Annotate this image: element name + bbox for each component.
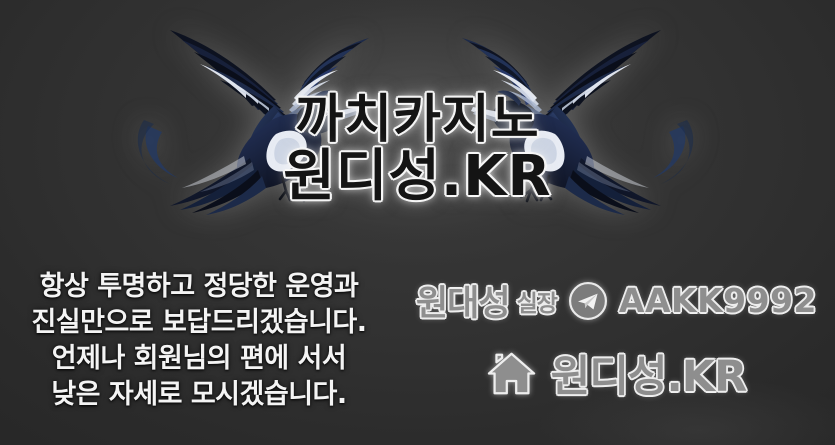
- logo-zone: 까치카지노 원디성.KR: [0, 0, 835, 238]
- telegram-id: AAKK9992: [619, 281, 817, 320]
- site-domain: 원디성.KR: [551, 342, 746, 404]
- magpie-bird-left: [126, 8, 376, 223]
- manager-name: 원대성: [416, 275, 510, 326]
- slogan-line-2: 진실만으로 보답드리겠습니다.: [0, 305, 398, 341]
- telegram-contact-row[interactable]: 원대성 실장 AAKK9992: [416, 275, 817, 326]
- home-icon[interactable]: [487, 350, 536, 397]
- slogan-line-4: 낮은 자세로 모시겠습니다.: [0, 377, 398, 413]
- slogan-line-3: 언제나 회원님의 편에 서서: [0, 341, 398, 377]
- magpie-bird-right: [455, 8, 705, 223]
- casino-promo-banner: 까치카지노 원디성.KR 항상 투명하고 정당한 운영과 진실만으로 보답드리겠…: [0, 0, 835, 445]
- telegram-icon[interactable]: [568, 281, 608, 321]
- contact-block: 원대성 실장 AAKK9992: [398, 245, 835, 404]
- slogan-line-1: 항상 투명하고 정당한 운영과: [0, 269, 398, 305]
- manager-role: 실장: [517, 284, 557, 318]
- lower-content: 항상 투명하고 정당한 운영과 진실만으로 보답드리겠습니다. 언제나 회원님의…: [0, 245, 835, 445]
- slogan-block: 항상 투명하고 정당한 운영과 진실만으로 보답드리겠습니다. 언제나 회원님의…: [0, 245, 398, 413]
- site-domain-row[interactable]: 원디성.KR: [487, 342, 746, 404]
